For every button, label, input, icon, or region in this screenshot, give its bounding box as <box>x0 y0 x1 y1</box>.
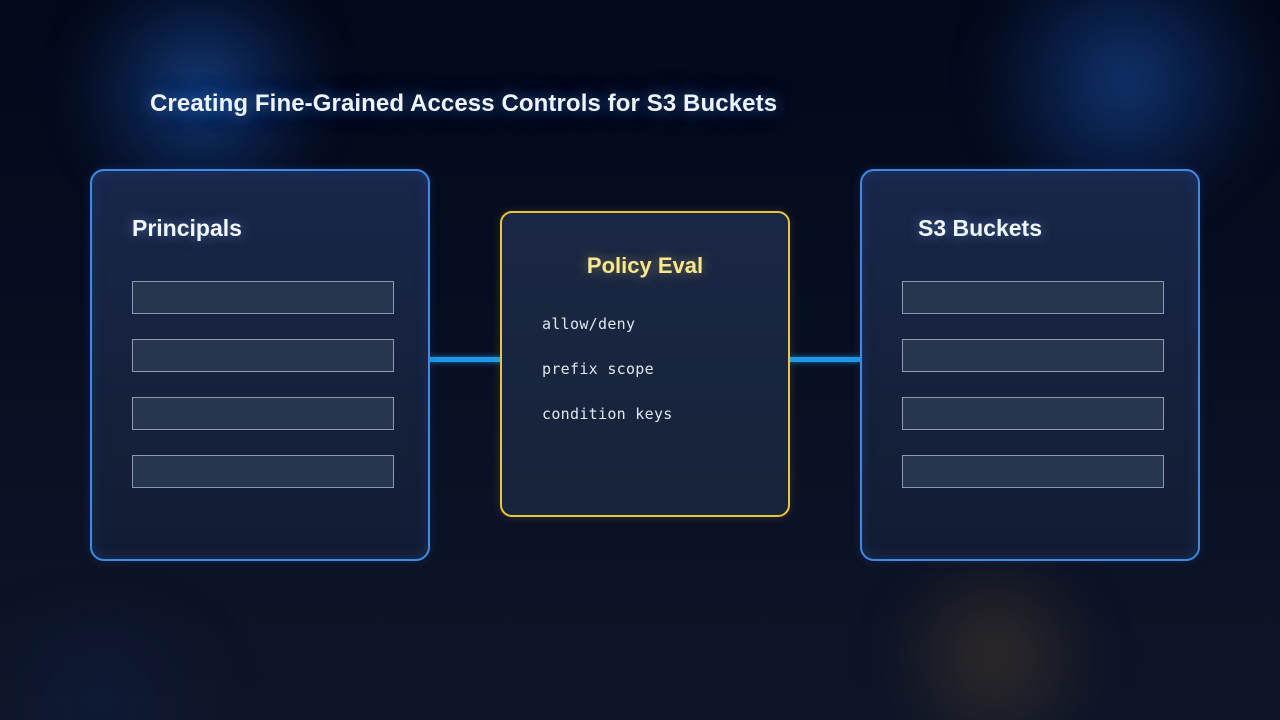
page-title: Creating Fine-Grained Access Controls fo… <box>150 90 777 118</box>
list-item[interactable] <box>132 455 394 488</box>
panel-policy-eval[interactable]: Policy Eval allow/deny prefix scope cond… <box>500 211 790 517</box>
panel-s3-buckets-title: S3 Buckets <box>918 215 1042 242</box>
list-item: prefix scope <box>542 360 673 378</box>
list-item[interactable] <box>902 397 1164 430</box>
list-item[interactable] <box>902 281 1164 314</box>
list-item[interactable] <box>902 455 1164 488</box>
panel-policy-eval-items: allow/deny prefix scope condition keys <box>542 315 673 423</box>
panel-principals-rows <box>132 281 394 488</box>
panel-policy-eval-title: Policy Eval <box>502 253 788 279</box>
panel-s3-buckets-rows <box>902 281 1164 488</box>
list-item: allow/deny <box>542 315 673 333</box>
panel-s3-buckets[interactable]: S3 Buckets <box>860 169 1200 561</box>
connector-policy-to-buckets <box>788 357 861 362</box>
list-item[interactable] <box>132 339 394 372</box>
panel-principals-title: Principals <box>132 215 242 242</box>
list-item: condition keys <box>542 405 673 423</box>
panel-principals[interactable]: Principals <box>90 169 430 561</box>
list-item[interactable] <box>132 397 394 430</box>
list-item[interactable] <box>902 339 1164 372</box>
list-item[interactable] <box>132 281 394 314</box>
connector-principals-to-policy <box>429 357 501 362</box>
